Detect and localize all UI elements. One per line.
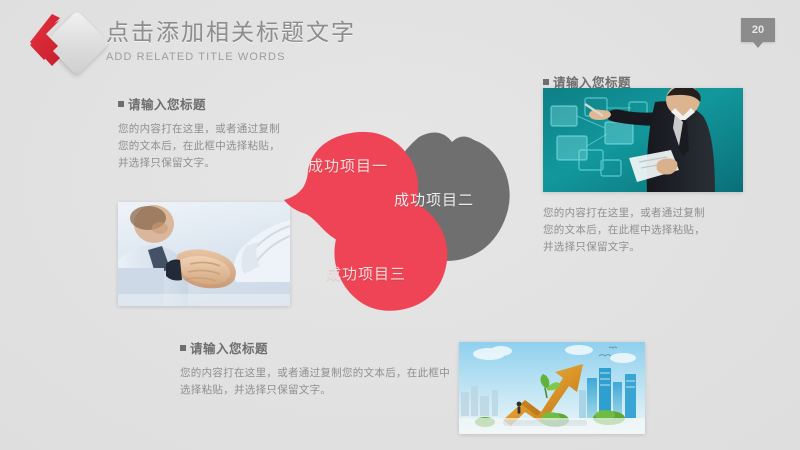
bubble-label-three: 成功项目三 (326, 263, 406, 284)
logo-chevron-icon (26, 14, 110, 76)
body-line: 并选择只保留文字。 (118, 155, 308, 172)
bullet-square-icon (118, 101, 124, 107)
slide-canvas: 点击添加相关标题文字 ADD RELATED TITLE WORDS 20 请输… (0, 0, 800, 450)
body-line: 您的内容打在这里，或者通过复制 (118, 121, 308, 138)
bullet-square-icon (543, 79, 549, 85)
bubble-diagram: 成功项目一 成功项目二 成功项目三 (282, 128, 522, 318)
text-block-bottom: 请输入您标题 您的内容打在这里，或者通过复制您的文本后，在此框中 选择粘贴，并选… (180, 338, 470, 399)
page-header: 点击添加相关标题文字 ADD RELATED TITLE WORDS (106, 18, 356, 63)
body-line: 您的内容打在这里，或者通过复制您的文本后，在此框中 (180, 365, 470, 382)
text-block-left-body: 您的内容打在这里，或者通过复制 您的文本后，在此框中选择粘贴， 并选择只保留文字… (118, 121, 308, 172)
bullet-square-icon (180, 345, 186, 351)
page-title: 点击添加相关标题文字 (106, 18, 356, 48)
body-line: 您的内容打在这里，或者通过复制 (543, 205, 783, 222)
bubble-label-two: 成功项目二 (394, 189, 474, 210)
body-line: 您的文本后，在此框中选择粘贴， (118, 138, 308, 155)
body-line: 您的文本后，在此框中选择粘贴， (543, 222, 783, 239)
growth-arrow-photo (459, 342, 645, 434)
text-block-bottom-title: 请输入您标题 (180, 338, 470, 357)
text-block-left-title: 请输入您标题 (118, 94, 308, 113)
handshake-photo (118, 202, 290, 306)
text-block-bottom-body: 您的内容打在这里，或者通过复制您的文本后，在此框中 选择粘贴，并选择只保留文字。 (180, 365, 470, 399)
body-line: 并选择只保留文字。 (543, 239, 783, 256)
bubble-label-one: 成功项目一 (308, 155, 388, 176)
body-line: 选择粘贴，并选择只保留文字。 (180, 382, 470, 399)
page-subtitle: ADD RELATED TITLE WORDS (106, 51, 356, 63)
chevron-diamond-logo (26, 14, 110, 76)
page-number-badge: 20 (741, 18, 775, 42)
touchscreen-photo (543, 88, 743, 192)
text-block-topright-body: 您的内容打在这里，或者通过复制 您的文本后，在此框中选择粘贴， 并选择只保留文字… (543, 205, 783, 256)
text-block-left: 请输入您标题 您的内容打在这里，或者通过复制 您的文本后，在此框中选择粘贴， 并… (118, 94, 308, 172)
